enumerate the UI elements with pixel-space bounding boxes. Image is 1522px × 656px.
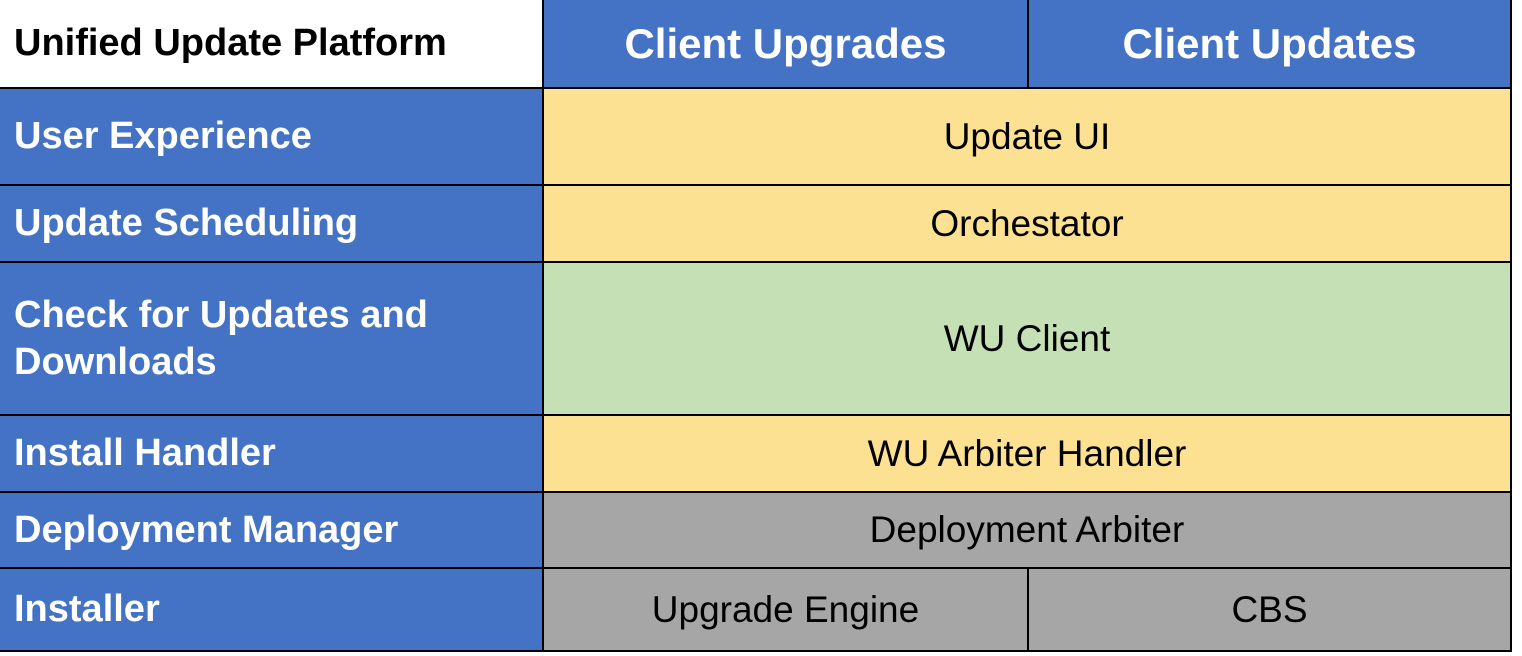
row-label-deployment-manager: Deployment Manager (0, 492, 543, 568)
unified-update-platform-table: Unified Update Platform Client Upgrades … (0, 0, 1512, 652)
column-header-client-upgrades: Client Upgrades (543, 0, 1028, 88)
cell-wu-arbiter-handler: WU Arbiter Handler (543, 415, 1511, 492)
table-row: Check for Updates and Downloads WU Clien… (0, 262, 1511, 415)
table-row: Installer Upgrade Engine CBS (0, 568, 1511, 651)
cell-cbs: CBS (1028, 568, 1511, 651)
table-header-row: Unified Update Platform Client Upgrades … (0, 0, 1511, 88)
row-label-user-experience: User Experience (0, 88, 543, 185)
table-row: Deployment Manager Deployment Arbiter (0, 492, 1511, 568)
table-row: User Experience Update UI (0, 88, 1511, 185)
cell-update-ui: Update UI (543, 88, 1511, 185)
cell-wu-client: WU Client (543, 262, 1511, 415)
page-title: Unified Update Platform (0, 0, 543, 88)
cell-orchestator: Orchestator (543, 185, 1511, 262)
cell-deployment-arbiter: Deployment Arbiter (543, 492, 1511, 568)
row-label-check-for-updates-and-downloads: Check for Updates and Downloads (0, 262, 543, 415)
cell-upgrade-engine: Upgrade Engine (543, 568, 1028, 651)
table-row: Update Scheduling Orchestator (0, 185, 1511, 262)
row-label-installer: Installer (0, 568, 543, 651)
row-label-install-handler: Install Handler (0, 415, 543, 492)
table-row: Install Handler WU Arbiter Handler (0, 415, 1511, 492)
column-header-client-updates: Client Updates (1028, 0, 1511, 88)
row-label-update-scheduling: Update Scheduling (0, 185, 543, 262)
